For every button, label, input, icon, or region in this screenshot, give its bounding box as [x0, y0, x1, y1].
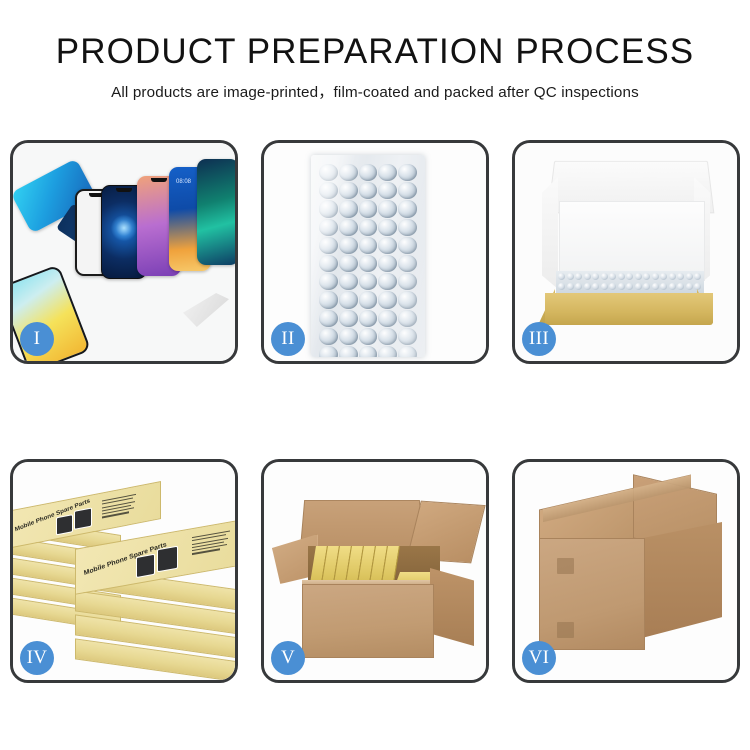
- bubble-icon: [378, 328, 397, 345]
- bubble-icon: [686, 283, 693, 290]
- bubble-icon: [359, 328, 378, 345]
- step-panel-2: II: [261, 140, 489, 364]
- bubble-icon: [359, 346, 378, 357]
- step-badge-4: IV: [20, 641, 54, 675]
- bubble-icon: [319, 273, 338, 290]
- bubble-icon: [339, 273, 358, 290]
- bubble-icon: [660, 273, 667, 280]
- foam-liner-icon: [559, 201, 705, 281]
- bubble-icon: [339, 328, 358, 345]
- bubble-icon: [592, 283, 599, 290]
- bubble-icon: [359, 237, 378, 254]
- bubble-icon: [398, 255, 417, 272]
- step-panel-6: VI: [512, 459, 740, 683]
- bubble-icon: [618, 283, 625, 290]
- step-badge-1: I: [20, 322, 54, 356]
- phone-screen-teal-icon: [197, 159, 235, 265]
- bubble-icon: [378, 219, 397, 236]
- page-subtitle: All products are image-printed，film-coat…: [0, 80, 750, 102]
- bubble-icon: [359, 291, 378, 308]
- bubble-icon: [660, 283, 667, 290]
- bubble-icon: [398, 273, 417, 290]
- bubble-icon: [618, 273, 625, 280]
- bubble-icon: [626, 273, 633, 280]
- bubble-icon: [584, 283, 591, 290]
- bubble-icon: [694, 273, 701, 280]
- bubble-icon: [686, 273, 693, 280]
- bubble-icon: [694, 283, 701, 290]
- step-panel-4: Mobile Phone Spare Parts: [10, 459, 238, 683]
- bubble-icon: [575, 273, 582, 280]
- infographic-page: PRODUCT PREPARATION PROCESS All products…: [0, 0, 750, 750]
- bubble-icon: [643, 283, 650, 290]
- bubble-icon: [378, 273, 397, 290]
- bubble-icon: [319, 346, 338, 357]
- bubble-icon: [626, 283, 633, 290]
- kraft-box-front-icon: [545, 293, 713, 325]
- step-badge-2: II: [271, 322, 305, 356]
- bubble-icon: [601, 283, 608, 290]
- bubble-icon: [359, 182, 378, 199]
- header: PRODUCT PREPARATION PROCESS All products…: [0, 0, 750, 102]
- bubble-icon: [567, 273, 574, 280]
- bubble-icon: [378, 255, 397, 272]
- step-panel-3: III: [512, 140, 740, 364]
- bubble-icon: [669, 273, 676, 280]
- bubble-icon: [359, 273, 378, 290]
- bubble-icon: [359, 310, 378, 327]
- bubble-icon: [339, 200, 358, 217]
- bubble-icon: [677, 273, 684, 280]
- bubble-icon: [319, 310, 338, 327]
- bubble-icon: [398, 310, 417, 327]
- bubble-icon: [567, 283, 574, 290]
- bubble-icon: [319, 237, 338, 254]
- bubble-icon: [378, 182, 397, 199]
- process-steps-grid: 08:08: [10, 140, 740, 683]
- step-badge-3: III: [522, 322, 556, 356]
- bubble-icon: [635, 273, 642, 280]
- bubble-icon: [359, 219, 378, 236]
- bubble-icon: [398, 346, 417, 357]
- bubble-icon: [319, 291, 338, 308]
- bubble-icon: [378, 310, 397, 327]
- carton-handle-tab-top-icon: [557, 558, 574, 574]
- bubble-wrap-sheet-icon: [311, 155, 425, 357]
- bubble-icon: [319, 200, 338, 217]
- bubble-icon: [339, 237, 358, 254]
- bubble-icon: [643, 273, 650, 280]
- bubble-icon: [339, 219, 358, 236]
- bubble-icon: [652, 283, 659, 290]
- bubble-icon: [319, 182, 338, 199]
- bubble-icon: [398, 182, 417, 199]
- sealed-carton-front-icon: [539, 538, 645, 650]
- bubble-icon: [378, 200, 397, 217]
- bubble-icon: [359, 255, 378, 272]
- bubble-icon: [575, 283, 582, 290]
- page-title: PRODUCT PREPARATION PROCESS: [0, 33, 750, 71]
- bubble-icon: [601, 273, 608, 280]
- step-panel-5: V: [261, 459, 489, 683]
- bubble-icon: [339, 310, 358, 327]
- bubble-icon: [558, 273, 565, 280]
- step-panel-1: 08:08: [10, 140, 238, 364]
- bubble-icon: [609, 283, 616, 290]
- bubble-icon: [398, 237, 417, 254]
- bubble-icon: [339, 182, 358, 199]
- bubble-icon: [339, 164, 358, 181]
- bubble-icon: [339, 346, 358, 357]
- step-badge-5: V: [271, 641, 305, 675]
- carton-handle-tab-bottom-icon: [557, 622, 574, 638]
- bubble-icon: [378, 346, 397, 357]
- bubble-icon: [609, 273, 616, 280]
- bubble-icon: [398, 164, 417, 181]
- bubble-icon: [359, 164, 378, 181]
- bubble-icon: [319, 219, 338, 236]
- bubble-icon: [319, 164, 338, 181]
- bubble-icon: [378, 164, 397, 181]
- carton-side-icon: [430, 568, 474, 646]
- bubble-icon: [592, 273, 599, 280]
- carton-front-icon: [302, 584, 434, 658]
- bubble-icon: [359, 200, 378, 217]
- bubble-icon: [378, 291, 397, 308]
- bubble-icon: [558, 283, 565, 290]
- bubble-icon: [319, 255, 338, 272]
- bubble-icon: [652, 273, 659, 280]
- bubble-icon: [339, 255, 358, 272]
- bubble-icon: [398, 328, 417, 345]
- step-badge-6: VI: [522, 641, 556, 675]
- bubble-icon: [378, 237, 397, 254]
- carton-flap-back-icon: [300, 500, 425, 552]
- bubble-icon: [669, 283, 676, 290]
- bubble-icon: [339, 291, 358, 308]
- bubble-icon: [398, 200, 417, 217]
- bubble-icon: [635, 283, 642, 290]
- bubble-icon: [677, 283, 684, 290]
- bubble-icon: [584, 273, 591, 280]
- bubble-icon: [398, 291, 417, 308]
- bubble-icon: [398, 219, 417, 236]
- bubble-icon: [319, 328, 338, 345]
